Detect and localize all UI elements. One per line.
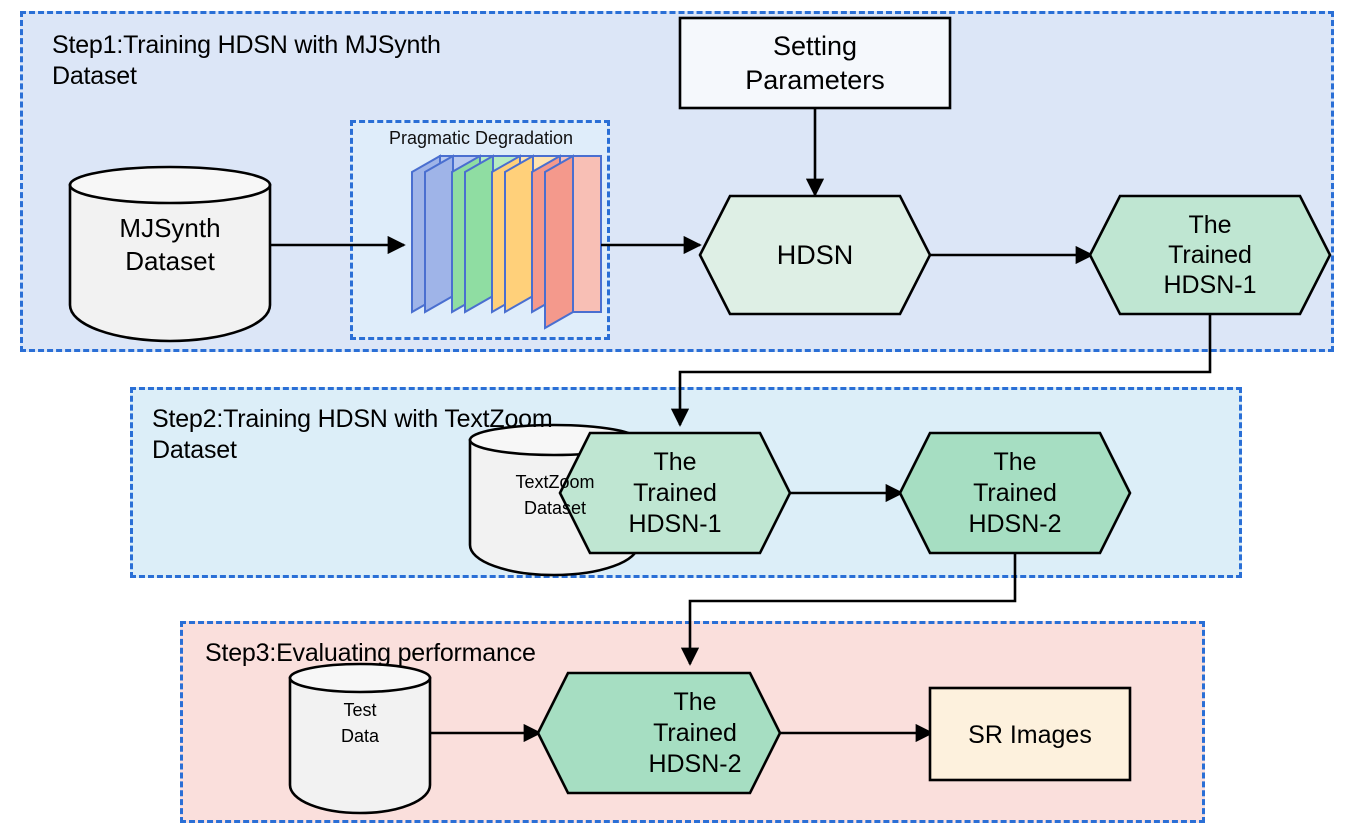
pragmatic-degradation-label: Pragmatic Degradation: [356, 128, 606, 149]
connector-step2-to-step3: [690, 553, 1015, 664]
connector-step1-to-step2: [680, 314, 1210, 425]
hexagon-hdsn: [700, 196, 930, 314]
cylinder-mjsynth-dataset: [70, 167, 270, 341]
step3-title: Step3:Evaluating performance: [205, 638, 725, 669]
cylinder-test-data: [290, 664, 430, 813]
hexagon-trained-hdsn-2-step3: [538, 673, 780, 793]
hexagon-trained-hdsn-1-step1: [1090, 196, 1330, 314]
layer-stack-pragmatic-degradation: [412, 156, 601, 328]
step2-title: Step2:Training HDSN with TextZoom Datase…: [152, 404, 622, 466]
box-sr-images: [930, 688, 1130, 780]
step1-title: Step1:Training HDSN with MJSynth Dataset: [52, 30, 472, 92]
hexagon-trained-hdsn-2-step2: [900, 433, 1130, 553]
box-setting-parameters: [680, 18, 950, 108]
